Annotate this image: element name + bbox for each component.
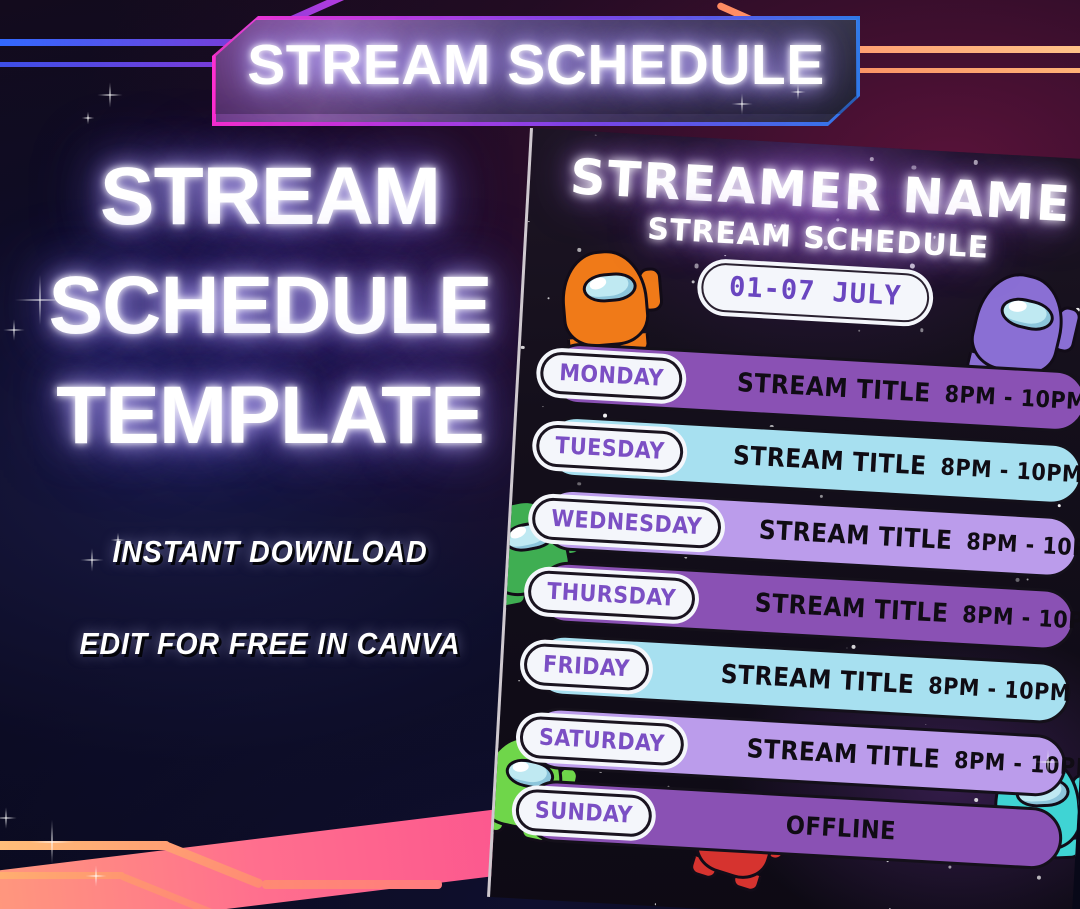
- day-label: SUNDAY: [534, 797, 633, 828]
- stream-time: 8PM - 10PM: [940, 454, 1080, 488]
- star: [920, 328, 924, 332]
- day-pill-wednesday[interactable]: WEDNESDAY: [531, 497, 722, 549]
- day-label: SATURDAY: [538, 724, 665, 757]
- day-pill-friday[interactable]: FRIDAY: [523, 643, 650, 692]
- stream-title: STREAM TITLE: [746, 734, 941, 775]
- star: [973, 160, 978, 165]
- stream-time: 8PM - 10PM: [962, 602, 1080, 636]
- day-label: MONDAY: [559, 360, 665, 392]
- day-label: WEDNESDAY: [550, 506, 702, 540]
- star: [521, 346, 524, 349]
- stream-title: STREAM TITLE: [732, 441, 927, 482]
- star: [518, 680, 520, 682]
- stream-title: STREAM TITLE: [720, 660, 915, 701]
- stream-time: 8PM - 10PM: [953, 748, 1080, 782]
- star: [542, 406, 543, 407]
- neon-rail-bottom-left-2: [0, 872, 125, 879]
- stream-title: STREAM TITLE: [754, 588, 949, 629]
- stream-time: 8PM - 10PM: [944, 382, 1080, 416]
- neon-rail-bottom-left-1-tail: [262, 880, 442, 889]
- day-label: FRIDAY: [542, 652, 630, 683]
- schedule-card-wrapper: STREAMER NAME STREAM SCHEDULE 01-07 JULY…: [487, 128, 1080, 909]
- star: [654, 903, 656, 905]
- star: [870, 157, 874, 161]
- header-banner: STREAM SCHEDULE: [212, 16, 860, 126]
- star: [595, 134, 597, 136]
- day-pill-monday[interactable]: MONDAY: [539, 351, 684, 401]
- day-pill-thursday[interactable]: THURSDAY: [527, 570, 696, 621]
- promo-subline-edit-in-canva: EDIT FOR FREE IN CANVA: [22, 626, 519, 662]
- stream-time: 8PM - 10PM: [966, 529, 1080, 563]
- stream-time: 8PM - 10PM: [928, 673, 1072, 707]
- star: [858, 329, 861, 332]
- schedule-rows: MONDAYSTREAM TITLE8PM - 10PMTUESDAYSTREA…: [523, 342, 1080, 882]
- promo-copy: STREAM SCHEDULE TEMPLATE INSTANT DOWNLOA…: [0, 150, 540, 662]
- banner-title: STREAM SCHEDULE: [212, 16, 860, 126]
- stream-title: STREAM TITLE: [736, 368, 931, 409]
- promo-line-2: SCHEDULE: [0, 259, 540, 352]
- promo-subline-instant-download: INSTANT DOWNLOAD: [22, 534, 519, 570]
- promo-line-3: TEMPLATE: [0, 369, 540, 462]
- stream-title: STREAM TITLE: [758, 515, 953, 556]
- promo-line-1: STREAM: [0, 150, 540, 243]
- neon-rail-bottom-left-1: [0, 841, 170, 850]
- day-label: TUESDAY: [555, 433, 666, 465]
- day-pill-tuesday[interactable]: TUESDAY: [535, 424, 685, 474]
- poster-canvas: STREAM SCHEDULE STREAM SCHEDULE TEMPLATE…: [0, 0, 1080, 909]
- schedule-card: STREAMER NAME STREAM SCHEDULE 01-07 JULY…: [487, 128, 1080, 909]
- day-label: THURSDAY: [546, 579, 676, 612]
- date-range-badge: 01-07 JULY: [700, 262, 931, 324]
- day-pill-sunday[interactable]: SUNDAY: [515, 788, 653, 838]
- neon-rail-top-left-1: [0, 39, 250, 46]
- offline-label: OFFLINE: [785, 810, 897, 845]
- day-pill-saturday[interactable]: SATURDAY: [519, 715, 685, 766]
